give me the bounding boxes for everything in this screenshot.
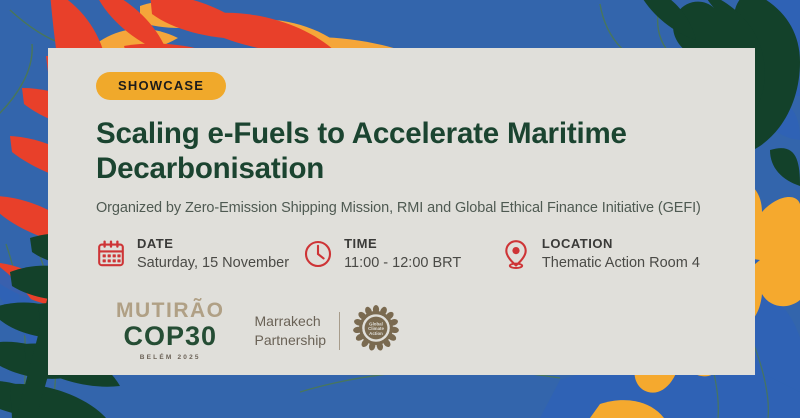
marrakech-line-1: Marrakech xyxy=(255,312,327,331)
clock-icon xyxy=(303,238,333,270)
location-label: LOCATION xyxy=(542,236,700,253)
emblem-line-3: Action xyxy=(369,331,383,336)
date-value: Saturday, 15 November xyxy=(137,254,289,273)
calendar-icon xyxy=(96,238,126,270)
cop30-mutirao-text: MUTIRÃO xyxy=(116,300,225,321)
cop30-logo: MUTIRÃO COP30 BELÉM 2025 xyxy=(116,300,225,362)
location-value: Thematic Action Room 4 xyxy=(542,254,700,273)
marrakech-partnership-logo: Marrakech Partnership xyxy=(255,305,400,356)
event-card: SHOWCASE Scaling e-Fuels to Accelerate M… xyxy=(48,48,755,375)
logo-bar: MUTIRÃO COP30 BELÉM 2025 Marrakech Partn… xyxy=(116,300,399,362)
cop30-belem-text: BELÉM 2025 xyxy=(116,355,225,362)
event-poster: SHOWCASE Scaling e-Fuels to Accelerate M… xyxy=(0,0,800,418)
event-detail-date: DATE Saturday, 15 November xyxy=(96,236,303,273)
location-pin-icon xyxy=(501,238,531,270)
event-organizers: Organized by Zero-Emission Shipping Miss… xyxy=(96,200,731,216)
cop30-wordmark: COP30 xyxy=(116,323,225,350)
marrakech-line-2: Partnership xyxy=(255,331,327,350)
date-label: DATE xyxy=(137,236,289,253)
event-details-row: DATE Saturday, 15 November TIME xyxy=(96,236,731,273)
showcase-badge: SHOWCASE xyxy=(96,72,226,100)
event-detail-location: LOCATION Thematic Action Room 4 xyxy=(501,236,731,273)
event-detail-time: TIME 11:00 - 12:00 BRT xyxy=(303,236,501,273)
time-value: 11:00 - 12:00 BRT xyxy=(344,254,461,273)
marrakech-partnership-text: Marrakech Partnership xyxy=(255,312,341,350)
global-climate-action-emblem: Global Climate Action xyxy=(353,305,399,356)
event-title: Scaling e-Fuels to Accelerate Maritime D… xyxy=(96,117,696,187)
time-label: TIME xyxy=(344,236,461,253)
